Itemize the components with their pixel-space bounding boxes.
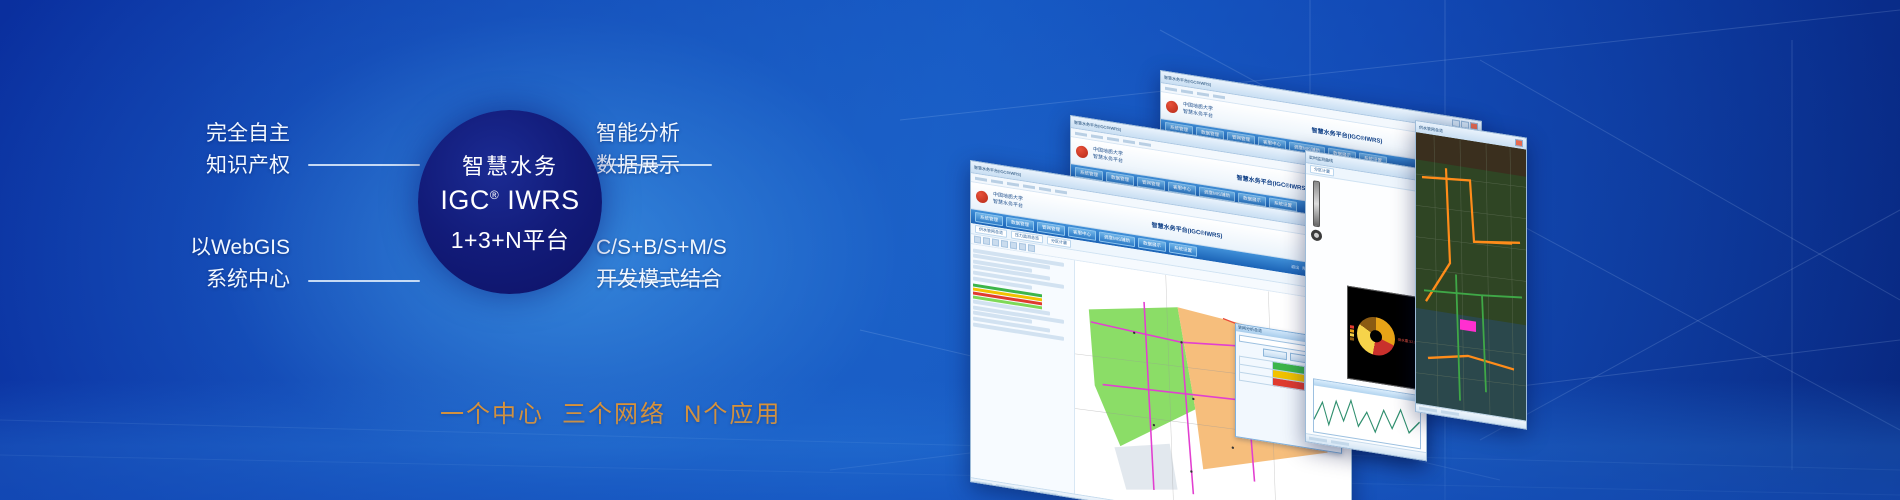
center-product-name: IGC® IWRS	[440, 185, 579, 216]
tagline: 一个中心三个网络N个应用	[440, 394, 781, 429]
legend-item	[1350, 325, 1354, 329]
legend-item	[1350, 329, 1354, 333]
feature-label-line1: 智能分析	[596, 118, 856, 150]
feature-label-line1: 完全自主	[40, 118, 290, 150]
feature-label-line1: 以WebGIS	[40, 232, 290, 264]
feature-label-line1: C/S+B/S+M/S	[596, 232, 856, 264]
zoom-out-icon[interactable]	[1001, 240, 1008, 248]
feature-label-line2: 开发模式结合	[596, 264, 856, 296]
close-icon[interactable]	[1515, 139, 1523, 147]
pan-icon[interactable]	[983, 237, 990, 245]
brand-text: 中国地质大学 智慧水务平台	[1093, 147, 1123, 166]
donut-chart	[1357, 314, 1395, 358]
pointer-icon[interactable]	[974, 236, 981, 244]
feature-label-bottom-left: 以WebGIS 系统中心	[40, 232, 290, 296]
feature-label-top-right: 智能分析 数据展示	[596, 118, 856, 182]
promo-banner: 完全自主 知识产权 以WebGIS 系统中心 智能分析 数据展示 C/S+B/S…	[0, 0, 1900, 500]
zoom-slider-icon[interactable]	[1310, 180, 1322, 252]
app-window-chart[interactable]: 实时监测曲线 分区计量 供水量:52.29	[1305, 150, 1427, 461]
layer-tree-panel[interactable]	[971, 244, 1075, 493]
print-icon[interactable]	[1028, 244, 1035, 252]
legend-item	[1350, 337, 1354, 341]
center-platform: 1+3+N平台	[451, 221, 570, 255]
company-logo-icon	[1166, 100, 1178, 114]
pan-control-icon[interactable]	[1311, 229, 1322, 242]
sub-tab[interactable]: 分区计量	[1310, 165, 1334, 177]
app-window-front[interactable]: 智慧水务平台(IGC®IWRS) 中国地质大学 智慧水务平台 智慧水务平台(IG…	[970, 160, 1352, 500]
zoom-slider-track[interactable]	[1313, 180, 1320, 227]
nav-right-link[interactable]: 退出	[1291, 264, 1299, 271]
tagline-item-2: 三个网络	[562, 401, 666, 428]
company-logo-icon	[1076, 145, 1088, 159]
tagline-item-1: 一个中心	[440, 401, 544, 428]
product-igc: IGC	[440, 185, 490, 215]
company-logo-icon	[976, 190, 988, 204]
tagline-item-3: N个应用	[684, 401, 781, 428]
feature-label-line2: 知识产权	[40, 150, 290, 182]
feature-label-line2: 数据展示	[596, 150, 856, 182]
donut-legend	[1350, 325, 1354, 341]
center-cn-title: 智慧水务	[462, 149, 558, 181]
feature-label-bottom-right: C/S+B/S+M/S 开发模式结合	[596, 232, 856, 296]
window-buttons[interactable]	[1515, 139, 1523, 147]
app-window-satellite[interactable]: 供水管网总览	[1415, 120, 1527, 430]
product-iwrs: IWRS	[507, 185, 580, 215]
feature-label-line2: 系统中心	[40, 264, 290, 296]
brand-text: 中国地质大学 智慧水务平台	[1183, 102, 1213, 121]
connector-top-left	[308, 164, 420, 166]
identify-icon[interactable]	[1019, 243, 1026, 251]
query-button[interactable]	[1263, 349, 1287, 361]
legend-item	[1350, 333, 1354, 337]
feature-label-top-left: 完全自主 知识产权	[40, 118, 290, 182]
screenshot-stack: 智慧水务平台(IGC®IWRS) 中国地质大学 智慧水务平台 智慧水务平台(IG…	[960, 40, 1780, 460]
concept-diagram: 完全自主 知识产权 以WebGIS 系统中心 智能分析 数据展示 C/S+B/S…	[250, 100, 810, 360]
brand-text: 中国地质大学 智慧水务平台	[993, 192, 1023, 211]
center-ellipse: 智慧水务 IGC® IWRS 1+3+N平台	[418, 110, 602, 294]
registered-mark-icon: ®	[490, 188, 499, 202]
satellite-map-canvas[interactable]	[1416, 132, 1526, 421]
connector-bottom-left	[308, 280, 420, 282]
zoom-in-icon[interactable]	[992, 238, 999, 246]
measure-icon[interactable]	[1010, 241, 1017, 249]
